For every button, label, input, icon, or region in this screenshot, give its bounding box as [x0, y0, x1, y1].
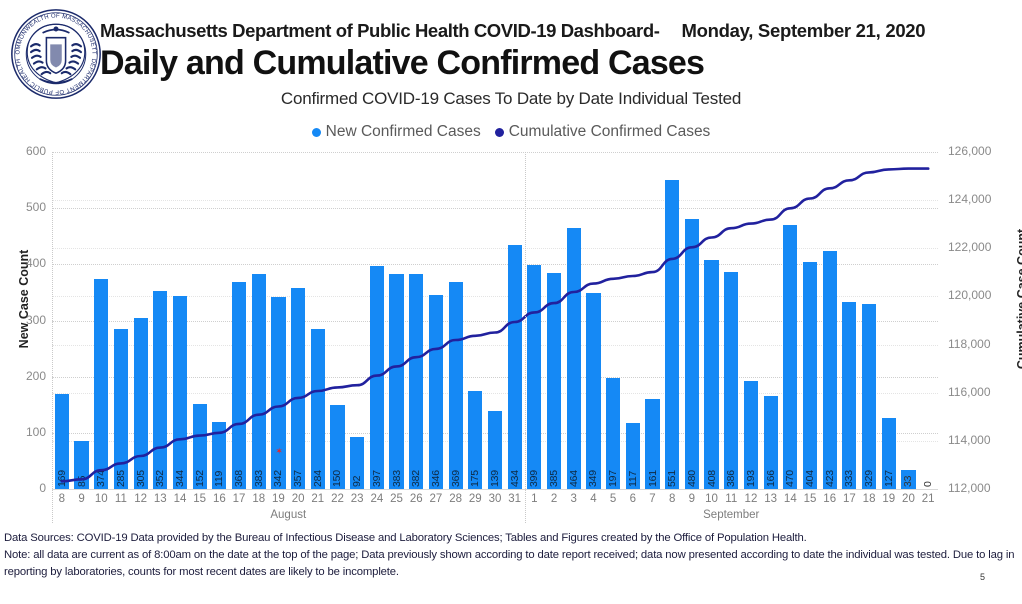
axis-start-separator [52, 152, 53, 523]
footer-line-2: Note: all data are current as of 8:00am … [4, 547, 1016, 563]
y-axis-left-tick-label: 100 [2, 425, 46, 439]
bar[interactable] [567, 228, 581, 489]
bar[interactable] [685, 219, 699, 489]
bar[interactable] [665, 180, 679, 489]
y-axis-right-tick-label: 126,000 [948, 144, 1010, 158]
bar-value-label: 464 [568, 455, 580, 487]
bar-value-label: 166 [765, 455, 777, 487]
y-axis-title-left: New Case Count [17, 229, 31, 369]
chart-canvas: New Case Count Cumulative Case Count 010… [0, 0, 1022, 604]
y-axis-right-tick-label: 116,000 [948, 385, 1010, 399]
bar-value-label: 329 [863, 455, 875, 487]
footer-notes: Data Sources: COVID-19 Data provided by … [4, 530, 1016, 581]
bar-value-label: 383 [391, 455, 403, 487]
gridline-right [52, 200, 938, 201]
page-number: 5 [980, 572, 985, 582]
bar-value-label: 333 [843, 455, 855, 487]
bar-value-label: 397 [371, 455, 383, 487]
bar-value-label: 342 [272, 455, 284, 487]
bar-value-label: 357 [292, 455, 304, 487]
footer-line-3: reporting by laboratories, counts for mo… [4, 564, 1016, 580]
bar-value-label: 161 [647, 455, 659, 487]
bar[interactable] [783, 225, 797, 489]
bar-value-label: 33 [902, 455, 914, 487]
bar-value-label: 85 [76, 455, 88, 487]
bar-value-label: 305 [135, 455, 147, 487]
bar-value-label: 434 [509, 455, 521, 487]
y-axis-right-tick-label: 118,000 [948, 337, 1010, 351]
y-axis-right-tick-label: 120,000 [948, 288, 1010, 302]
x-axis-baseline [52, 489, 938, 490]
gridline-right [52, 248, 938, 249]
bar-value-label: 551 [666, 455, 678, 487]
red-annotation-marker: ✶ [275, 447, 283, 456]
bar-value-label: 92 [351, 455, 363, 487]
bar-value-label: 408 [706, 455, 718, 487]
y-axis-left-tick-label: 0 [2, 481, 46, 495]
month-separator [525, 152, 526, 523]
y-axis-left-tick-label: 300 [2, 313, 46, 327]
bar-value-label: 369 [450, 455, 462, 487]
bar-value-label: 383 [253, 455, 265, 487]
gridline-right [52, 152, 938, 153]
bar-value-label: 193 [745, 455, 757, 487]
bar-value-label: 175 [469, 455, 481, 487]
bar-value-label: 152 [194, 455, 206, 487]
bar[interactable] [823, 251, 837, 489]
footer-line-1: Data Sources: COVID-19 Data provided by … [4, 530, 1016, 546]
y-axis-left-tick-label: 600 [2, 144, 46, 158]
dashboard-page: COMMONWEALTH OF MASSACHUSETTS DEPARTMENT… [0, 0, 1022, 604]
x-axis-month-label: August [228, 509, 348, 521]
bar-value-label: 480 [686, 455, 698, 487]
bar-value-label: 150 [331, 455, 343, 487]
bar-value-label: 284 [312, 455, 324, 487]
bar-value-label: 344 [174, 455, 186, 487]
y-axis-left-tick-label: 500 [2, 200, 46, 214]
y-axis-left-tick-label: 200 [2, 369, 46, 383]
bar[interactable] [508, 245, 522, 489]
bar-value-label: 470 [784, 455, 796, 487]
bar-value-label: 385 [548, 455, 560, 487]
bar-value-label: 349 [587, 455, 599, 487]
y-axis-left-tick-label: 400 [2, 256, 46, 270]
bar-value-label: 423 [824, 455, 836, 487]
y-axis-right-tick-label: 122,000 [948, 240, 1010, 254]
bar-value-label: 399 [528, 455, 540, 487]
bar-value-label: 169 [56, 455, 68, 487]
bar-value-label: 285 [115, 455, 127, 487]
gridline [52, 208, 938, 209]
bar-value-label: 346 [430, 455, 442, 487]
bar-value-label: 386 [725, 455, 737, 487]
y-axis-right-tick-label: 124,000 [948, 192, 1010, 206]
x-axis-month-label: September [671, 509, 791, 521]
y-axis-title-right: Cumulative Case Count [1015, 209, 1022, 389]
bar-value-label: 117 [627, 455, 639, 487]
bar-value-label: 382 [410, 455, 422, 487]
bar-value-label: 197 [607, 455, 619, 487]
bar-value-label: 119 [213, 455, 225, 487]
y-axis-right-tick-label: 112,000 [948, 481, 1010, 495]
y-axis-right-tick-label: 114,000 [948, 433, 1010, 447]
bar-value-label: 374 [95, 455, 107, 487]
bar-value-label: 0 [922, 455, 934, 487]
bar-value-label: 127 [883, 455, 895, 487]
bar-value-label: 404 [804, 455, 816, 487]
bar-value-label: 139 [489, 455, 501, 487]
x-axis-tick-label: 21 [916, 493, 940, 505]
bar-value-label: 368 [233, 455, 245, 487]
bar-value-label: 352 [154, 455, 166, 487]
